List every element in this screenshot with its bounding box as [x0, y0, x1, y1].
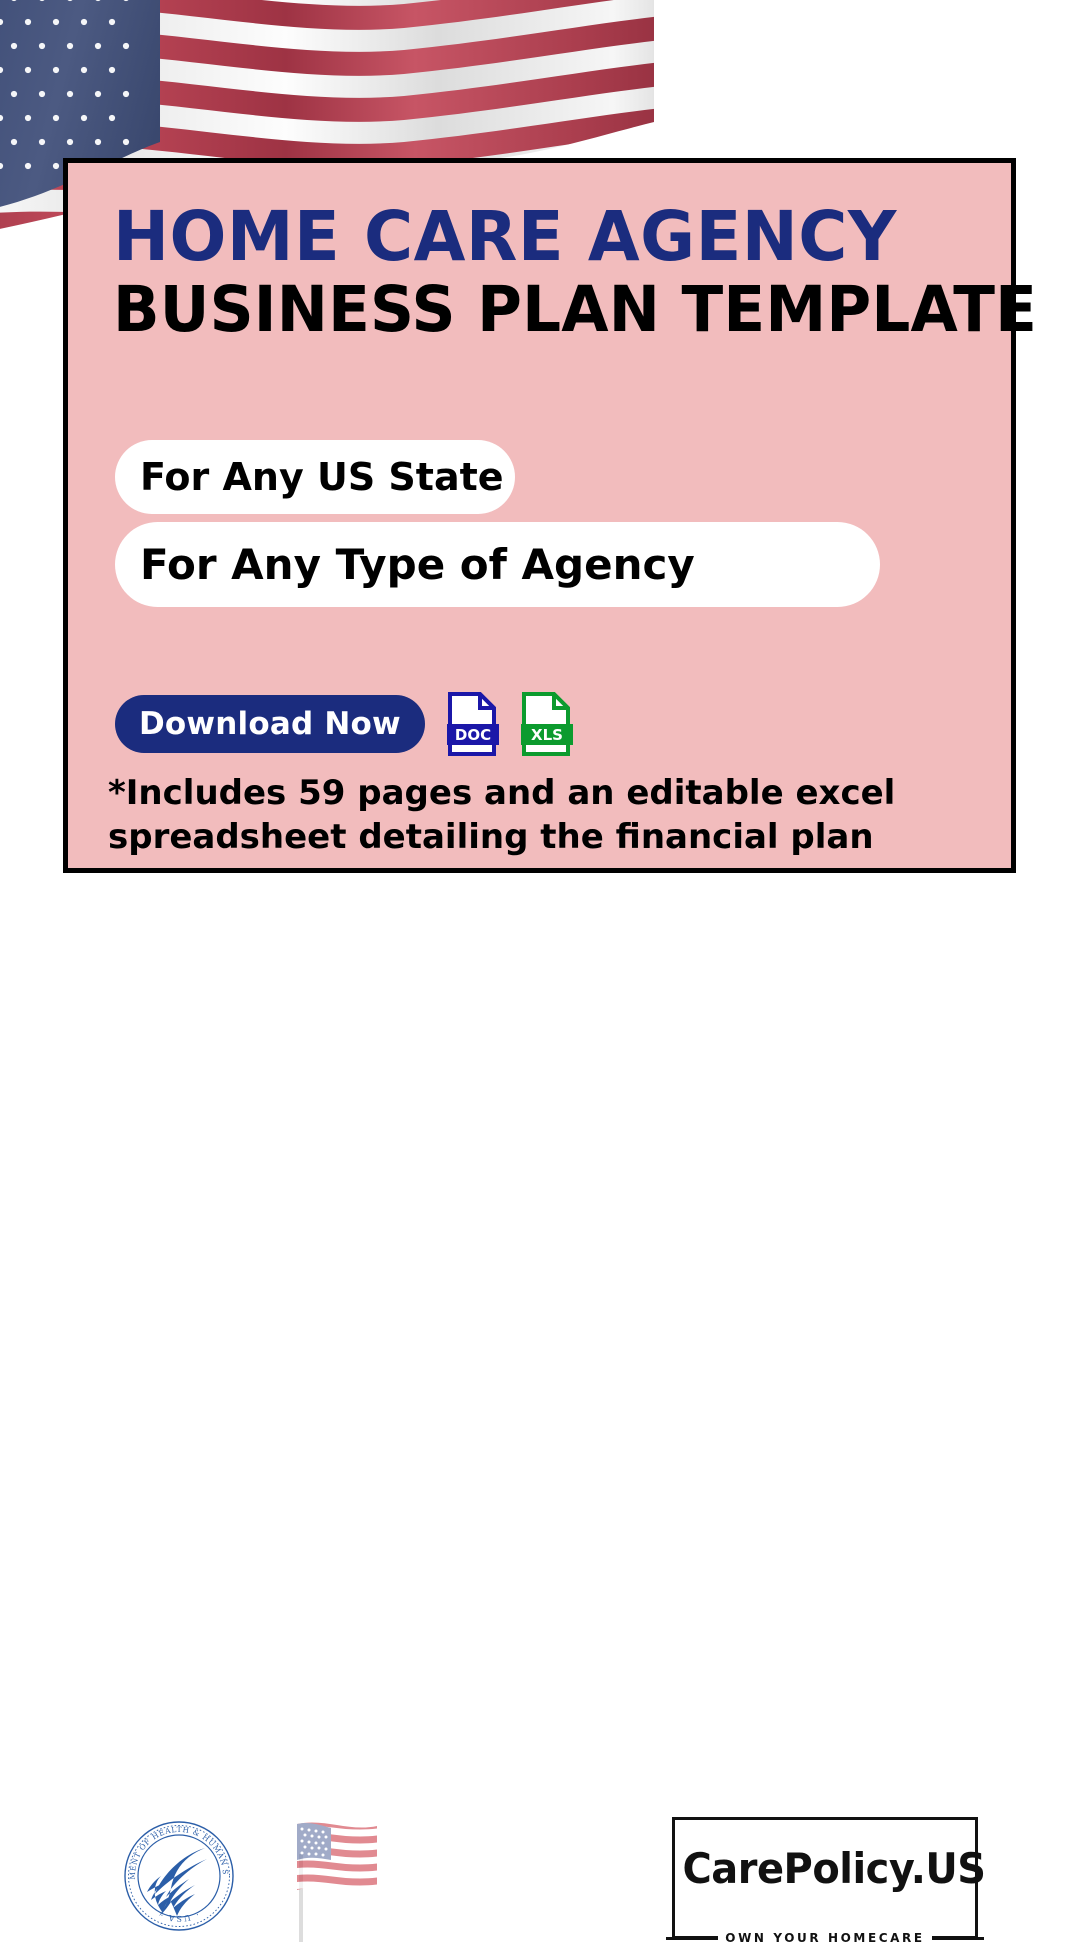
us-flag-icon	[281, 1816, 385, 1944]
page-title-primary: HOME CARE AGENCY	[113, 199, 976, 275]
download-now-button[interactable]: Download Now	[115, 695, 425, 753]
carepolicy-logo: CarePolicy.US OWN YOUR HOMECARE	[672, 1817, 978, 1939]
feature-pill-state[interactable]: For Any US State	[115, 440, 515, 514]
xls-file-icon[interactable]: XLS	[521, 691, 573, 757]
logo-rule-right	[932, 1937, 984, 1940]
feature-pill-agency-type[interactable]: For Any Type of Agency	[115, 522, 880, 607]
footnote-text: *Includes 59 pages and an editable excel…	[108, 771, 988, 859]
promo-card: HOME CARE AGENCY BUSINESS PLAN TEMPLATE …	[63, 158, 1016, 873]
xls-file-label: XLS	[531, 726, 563, 744]
feature-pill-state-label: For Any US State	[140, 455, 504, 499]
footer: DEPARTMENT OF HEALTH & HUMAN SERVICES · …	[0, 900, 1080, 1080]
svg-text:· USA ·: · USA ·	[158, 1910, 200, 1923]
doc-file-icon[interactable]: DOC	[447, 691, 499, 757]
doc-file-label: DOC	[455, 726, 491, 744]
page-title-secondary: BUSINESS PLAN TEMPLATE	[113, 275, 976, 345]
logo-wordmark: CarePolicy.US	[683, 1844, 968, 1893]
cta-row: Download Now DOC XLS	[115, 691, 573, 757]
logo-tagline-row: OWN YOUR HOMECARE	[653, 1931, 997, 1945]
hhs-seal-icon: DEPARTMENT OF HEALTH & HUMAN SERVICES · …	[121, 1818, 237, 1934]
headline-block: HOME CARE AGENCY BUSINESS PLAN TEMPLATE	[113, 199, 1003, 345]
feature-pill-agency-type-label: For Any Type of Agency	[140, 540, 695, 589]
logo-rule-left	[666, 1937, 718, 1940]
logo-tagline: OWN YOUR HOMECARE	[718, 1931, 931, 1945]
